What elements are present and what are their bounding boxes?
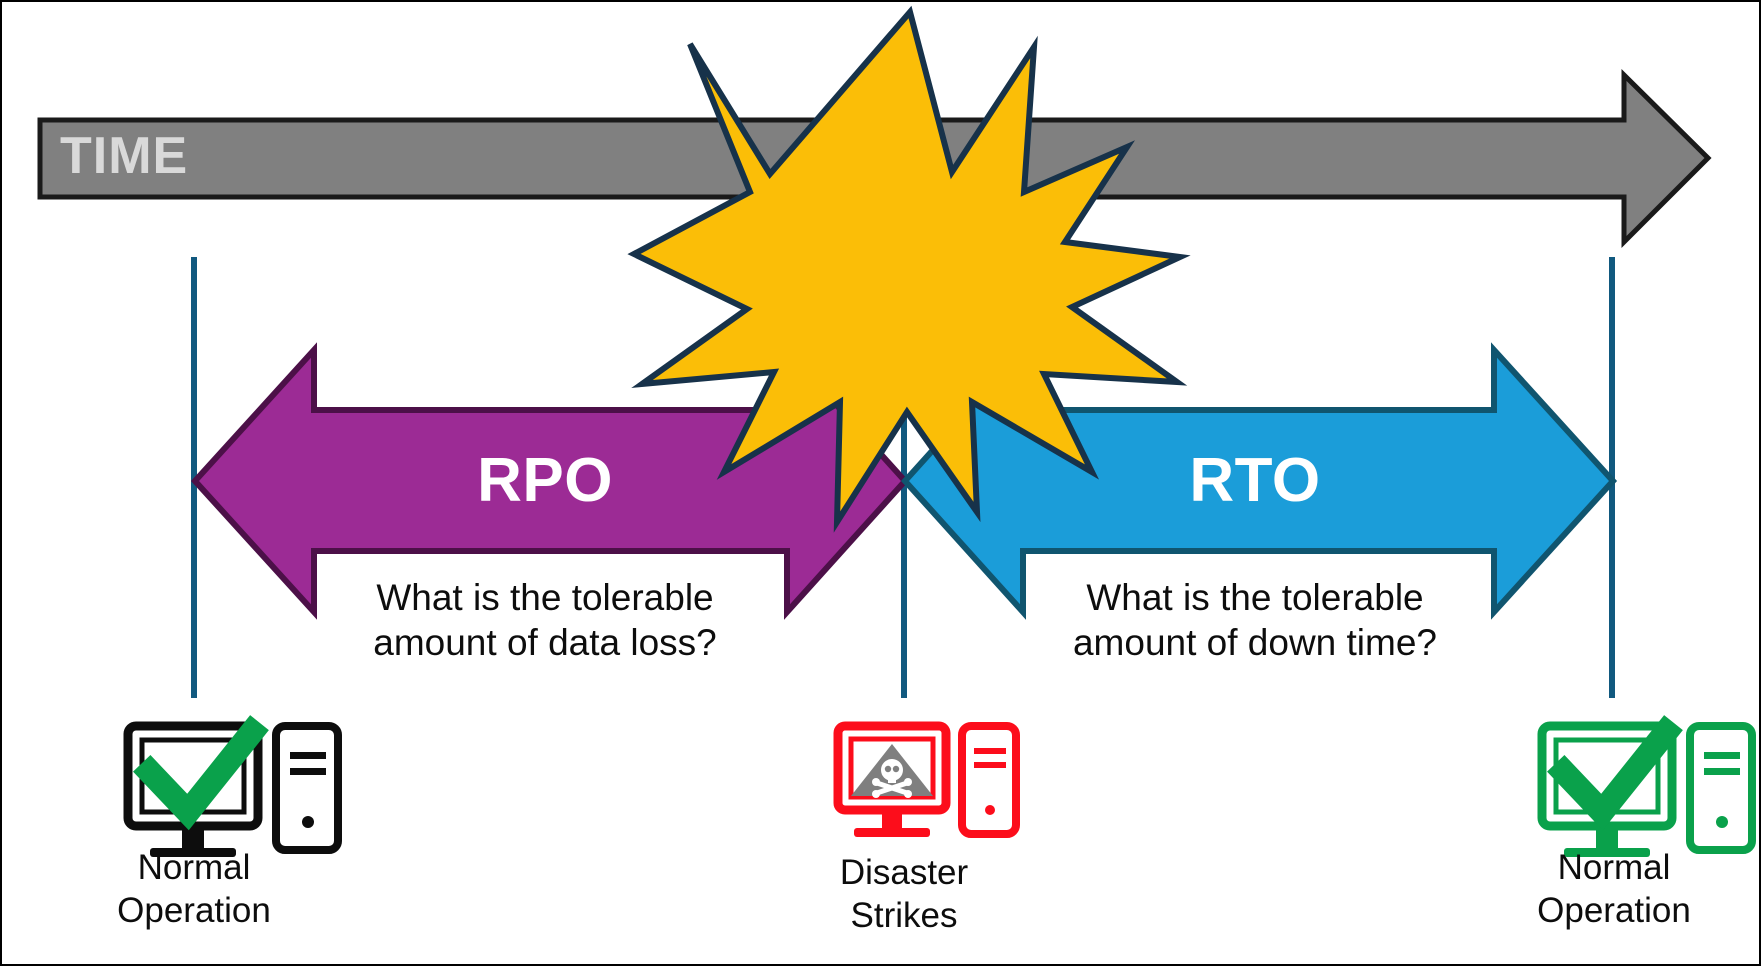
tower-slot-bottom-icon — [974, 762, 1006, 768]
tower-frame-icon — [1690, 726, 1752, 850]
milestone-icon-center — [838, 726, 1016, 837]
tower-slot-bottom-icon — [290, 768, 326, 775]
skull-head-icon — [881, 759, 903, 781]
tower-slot-bottom-icon — [1704, 768, 1740, 775]
tower-power-dot-icon — [302, 816, 314, 828]
tower-power-dot-icon — [1716, 816, 1728, 828]
monitor-stand-icon — [882, 810, 902, 830]
rto-question: What is the tolerable amount of down tim… — [1035, 575, 1475, 665]
tower-frame-icon — [962, 726, 1016, 834]
milestone-icon-left — [128, 726, 338, 857]
milestone-label-right: Normal Operation — [1494, 847, 1734, 932]
rpo-question: What is the tolerable amount of data los… — [325, 575, 765, 665]
skull-eye-right-icon — [893, 766, 899, 772]
rpo-label: RPO — [355, 445, 735, 516]
diagram-canvas: TIME RPO RTO What is the tolerable amoun… — [0, 0, 1761, 966]
time-axis-label: TIME — [60, 126, 188, 186]
bone-knob-2-icon — [904, 778, 912, 786]
bone-knob-1-icon — [872, 778, 880, 786]
tower-power-dot-icon — [985, 805, 995, 815]
skull-eye-left-icon — [885, 766, 891, 772]
check-icon — [1564, 732, 1666, 812]
rto-label: RTO — [1065, 445, 1445, 516]
check-icon — [150, 732, 252, 812]
skull-jaw-icon — [888, 778, 896, 783]
tower-slot-top-icon — [1704, 752, 1740, 759]
tower-slot-top-icon — [290, 752, 326, 759]
bone-knob-3-icon — [872, 790, 880, 798]
tower-frame-icon — [276, 726, 338, 850]
tower-slot-top-icon — [974, 748, 1006, 754]
milestone-label-left: Normal Operation — [74, 847, 314, 932]
milestone-label-center: Disaster Strikes — [794, 852, 1014, 937]
rpo-rto-timeline-diagram — [2, 2, 1761, 966]
bone-knob-4-icon — [904, 790, 912, 798]
milestone-icon-right — [1542, 726, 1752, 857]
monitor-base-icon — [854, 828, 930, 837]
